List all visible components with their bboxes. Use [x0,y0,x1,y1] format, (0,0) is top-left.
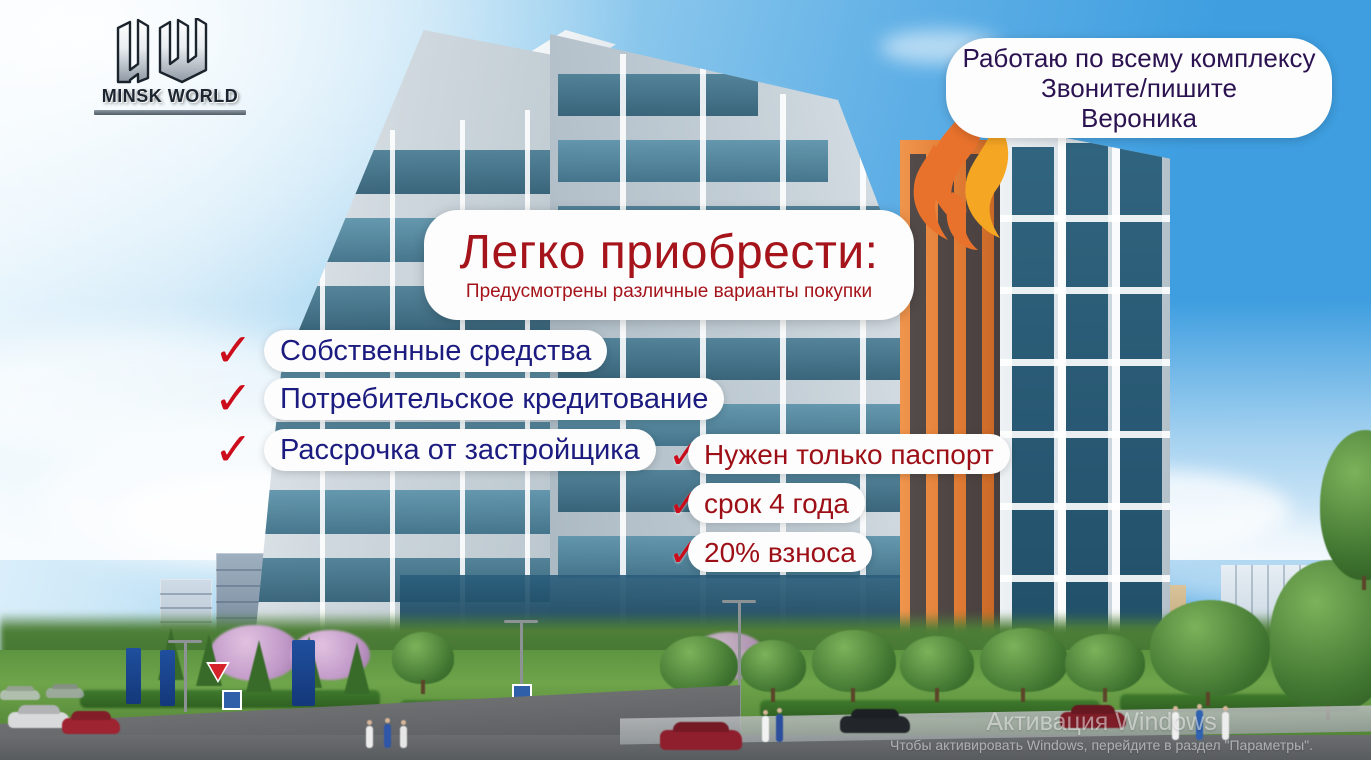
page-title: Легко приобрести: [460,227,879,279]
yield-sign [206,662,230,683]
title-card: Легко приобрести: Предусмотрены различны… [424,210,914,320]
check-icon: ✓ [214,375,253,421]
payment-option-label: Потребительское кредитование [280,383,708,415]
car [0,690,40,700]
conifer-tree [246,640,272,692]
conifer-tree [344,642,370,694]
tree [1150,600,1270,696]
contact-line-2: Звоните/пишите [962,73,1315,103]
installment-term-item[interactable]: Нужен только паспорт [688,434,1010,474]
pedestrian [762,716,769,742]
installment-term-label: 20% взноса [704,537,856,568]
car [1060,712,1126,728]
check-icon: ✓ [214,327,253,373]
page-subtitle: Предусмотрены различные варианты покупки [466,281,872,303]
contact-line-3: Вероника [962,103,1315,133]
contact-line-1: Работаю по всему комплексу [962,43,1315,73]
installment-term-label: срок 4 года [704,488,849,519]
car [62,718,120,734]
tree [392,632,454,684]
tree [812,630,896,692]
installment-term-item[interactable]: срок 4 года [688,483,865,523]
pedestrian [366,726,373,748]
check-icon: ✓ [214,426,253,472]
pedestrian [1172,712,1179,740]
car [46,688,84,698]
pedestrian [776,714,783,742]
tree [740,640,806,692]
tree [900,636,974,692]
payment-option-label: Рассрочка от застройщика [280,434,640,466]
street-banner [160,650,175,706]
contact-callout-bubble[interactable]: Работаю по всему комплексу Звоните/пишит… [946,38,1332,138]
street-lamp [184,640,187,712]
car [8,712,70,728]
tree [980,628,1068,692]
street-banner [300,640,315,706]
pedestrian [384,724,391,748]
promo-banner: MINSK WORLD Работаю по всему комплексу З… [0,0,1371,760]
car [840,716,910,733]
payment-option-item[interactable]: Потребительское кредитование [264,378,724,420]
payment-option-item[interactable]: Рассрочка от застройщика [264,429,656,471]
street-banner [126,648,141,704]
payment-option-item[interactable]: Собственные средства [264,330,607,372]
payment-option-label: Собственные средства [280,335,591,367]
logo-underbar [94,110,246,115]
installment-term-label: Нужен только паспорт [704,439,994,470]
minsk-world-logo: MINSK WORLD [90,18,250,118]
pedestrian [1222,712,1229,740]
car [660,730,742,750]
installment-term-item[interactable]: 20% взноса [688,532,872,572]
pedestrian-sign [222,690,242,710]
logo-wordmark: MINSK WORLD [90,86,250,107]
contact-text: Работаю по всему комплексу Звоните/пишит… [962,43,1315,133]
tree [1065,634,1145,692]
pedestrian [400,726,407,748]
mw-monogram-icon [104,18,224,84]
pedestrian [1196,710,1203,740]
